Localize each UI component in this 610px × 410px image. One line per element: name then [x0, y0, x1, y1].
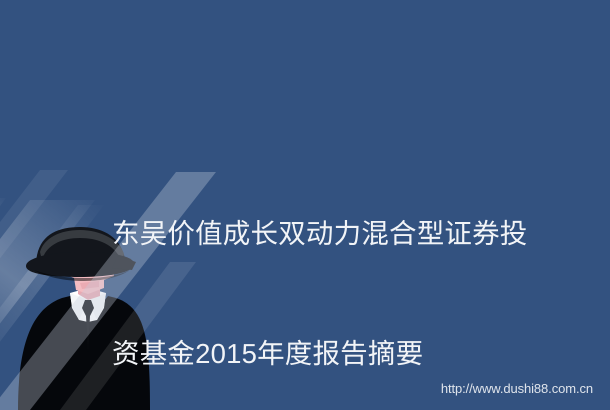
watermark-url: http://www.dushi88.com.cn	[441, 381, 593, 396]
page-title: 东吴价值成长双动力混合型证券投 资基金2015年度报告摘要	[112, 134, 572, 410]
banner-image: 东吴价值成长双动力混合型证券投 资基金2015年度报告摘要 http://www…	[0, 0, 610, 410]
page-title-line-1: 东吴价值成长双动力混合型证券投	[112, 214, 572, 254]
page-title-line-2: 资基金2015年度报告摘要	[112, 334, 572, 374]
